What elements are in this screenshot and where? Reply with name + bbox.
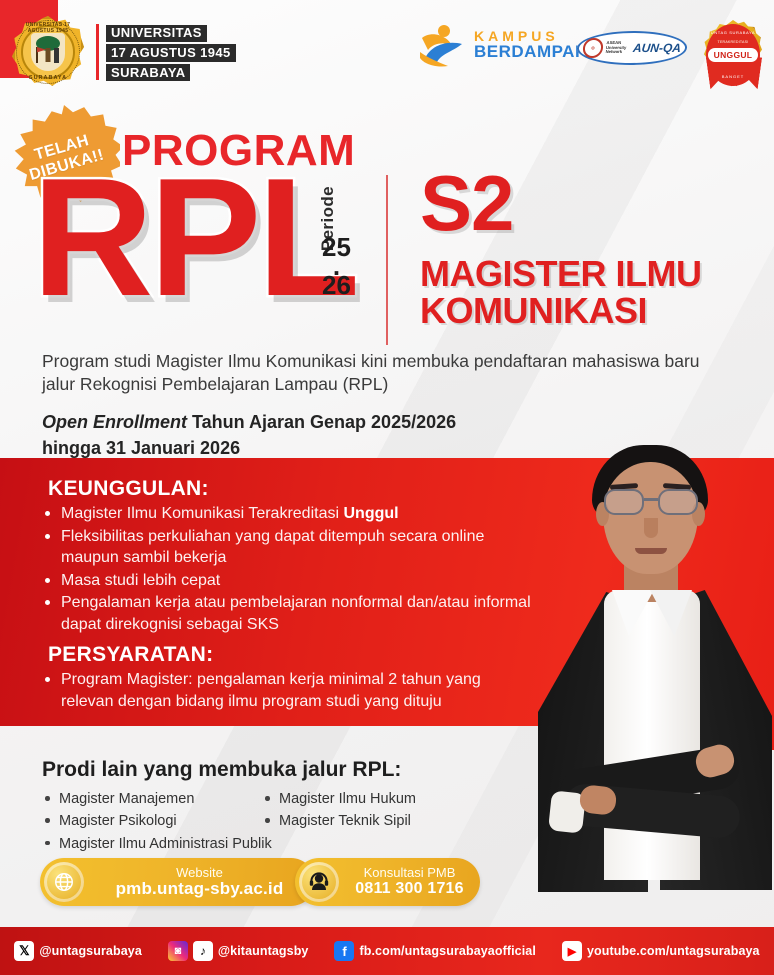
aun-qa-label: AUN-QA	[632, 41, 681, 55]
logo-divider	[96, 24, 99, 80]
other-program-item: Magister Psikologi	[42, 810, 272, 832]
tiktok-icon[interactable]: ♪	[193, 941, 213, 961]
kampus-berdampak-line2: BERDAMPAK	[474, 43, 588, 61]
university-name-line1: UNIVERSITAS	[106, 25, 207, 42]
social-media-bar: 𝕏@untagsurabaya◙♪@kitauntagsbyffb.com/un…	[0, 927, 774, 975]
globe-icon	[44, 862, 84, 902]
requirement-item: Program Magister: pengalaman kerja minim…	[42, 669, 522, 712]
social-link[interactable]: ▶youtube.com/untagsurabaya	[562, 941, 760, 961]
youtube-icon[interactable]: ▶	[562, 941, 582, 961]
degree-level: S2	[420, 168, 513, 238]
program-description: Program studi Magister Ilmu Komunikasi k…	[42, 350, 722, 396]
social-link[interactable]: 𝕏@untagsurabaya	[14, 941, 142, 961]
university-name-line2: 17 AGUSTUS 1945	[106, 44, 236, 61]
advantage-item: Fleksibilitas perkuliahan yang dapat dit…	[42, 526, 542, 569]
aun-qa-logo: ◎ ASEAN University Network AUN-QA	[575, 31, 689, 65]
other-program-item: Magister Ilmu Hukum	[262, 788, 416, 810]
kampus-berdampak-line1: KAMPUS	[474, 29, 588, 44]
aun-qa-subtext: ASEAN University Network	[605, 41, 630, 54]
x-icon[interactable]: 𝕏	[14, 941, 34, 961]
social-handle: @untagsurabaya	[39, 944, 142, 958]
advantage-text: Masa studi lebih cepat	[61, 572, 220, 589]
headset-icon	[299, 862, 339, 902]
other-program-item: Magister Manajemen	[42, 788, 272, 810]
advantage-text: Fleksibilitas perkuliahan yang dapat dit…	[61, 528, 484, 567]
university-name-line3: SURABAYA	[106, 64, 190, 81]
degree-sub-line1: MAGISTER ILMU	[420, 255, 701, 292]
kampus-berdampak-logo: KAMPUS BERDAMPAK	[418, 22, 588, 68]
lecturer-photo	[520, 440, 774, 940]
university-name: UNIVERSITAS 17 AGUSTUS 1945 SURABAYA	[106, 24, 236, 83]
rpl-word: RPL	[32, 160, 356, 315]
requirements-list: Program Magister: pengalaman kerja minim…	[42, 669, 522, 712]
periode-years: 25 . 26	[322, 235, 351, 297]
website-url: pmb.untag-sby.ac.id	[90, 880, 309, 899]
social-handle: @kitauntagsby	[218, 944, 309, 958]
advantage-item: Magister Ilmu Komunikasi Terakreditasi U…	[42, 503, 542, 525]
advantage-item: Pengalaman kerja atau pembelajaran nonfo…	[42, 592, 542, 635]
other-program-item: Magister Ilmu Administrasi Publik	[42, 833, 272, 855]
social-link[interactable]: ◙♪@kitauntagsby	[168, 941, 309, 961]
unggul-sub-text: TERAKREDITASI	[706, 40, 760, 44]
university-seal-icon: UNIVERSITAS 17 AGUSTUS 1945 SURABAYA	[12, 16, 84, 88]
poster-canvas: UNIVERSITAS 17 AGUSTUS 1945 SURABAYA UNI…	[0, 0, 774, 975]
requirements-heading: PERSYARATAN:	[48, 643, 213, 667]
social-handle: youtube.com/untagsurabaya	[587, 944, 760, 958]
asean-network-icon: ◎	[582, 38, 604, 58]
deadline-text: hingga 31 Januari 2026	[42, 438, 240, 459]
other-program-item: Magister Teknik Sipil	[262, 810, 416, 832]
other-programs-column-1: Magister ManajemenMagister PsikologiMagi…	[42, 788, 272, 855]
periode-year-2: 26	[322, 270, 351, 300]
degree-sub-line2: KOMUNIKASI	[420, 292, 701, 329]
other-programs-heading: Prodi lain yang membuka jalur RPL:	[42, 758, 401, 782]
consultation-phone: 0811 300 1716	[345, 880, 474, 898]
unggul-label: UNGGUL	[708, 48, 759, 62]
website-label: Website	[90, 866, 309, 880]
eyeglasses-icon	[604, 489, 698, 515]
unggul-bottom-text: BANGET	[706, 74, 760, 79]
degree-program-name: MAGISTER ILMU KOMUNIKASI	[420, 255, 701, 330]
open-enrollment-line: Open Enrollment Tahun Ajaran Genap 2025/…	[42, 412, 456, 433]
unggul-accreditation-seal: UNTAG SURABAYA TERAKREDITASI UNGGUL BANG…	[700, 18, 766, 92]
unggul-top-text: UNTAG SURABAYA	[706, 30, 760, 35]
open-enrollment-emphasis: Open Enrollment	[42, 412, 187, 432]
open-enrollment-rest: Tahun Ajaran Genap 2025/2026	[187, 412, 456, 432]
title-divider	[386, 175, 388, 345]
instagram-icon[interactable]: ◙	[168, 941, 188, 961]
kampus-berdampak-icon	[418, 22, 466, 68]
advantage-emphasis: Unggul	[343, 505, 398, 522]
advantage-text: Magister Ilmu Komunikasi Terakreditasi	[61, 505, 343, 522]
advantages-heading: KEUNGGULAN:	[48, 477, 209, 501]
social-handle: fb.com/untagsurabayaofficial	[359, 944, 535, 958]
consultation-label: Konsultasi PMB	[345, 866, 474, 880]
seal-bottom-text: SURABAYA	[12, 75, 84, 81]
social-link[interactable]: ffb.com/untagsurabayaofficial	[334, 941, 535, 961]
advantage-text: Pengalaman kerja atau pembelajaran nonfo…	[61, 594, 531, 633]
consultation-button[interactable]: Konsultasi PMB 0811 300 1716	[295, 858, 480, 906]
advantages-list: Magister Ilmu Komunikasi Terakreditasi U…	[42, 503, 542, 637]
other-programs-column-2: Magister Ilmu HukumMagister Teknik Sipil	[262, 788, 416, 833]
website-button[interactable]: Website pmb.untag-sby.ac.id	[40, 858, 315, 906]
facebook-icon[interactable]: f	[334, 941, 354, 961]
advantage-item: Masa studi lebih cepat	[42, 570, 542, 592]
deadline-wrap: hingga 31 Januari 2026	[42, 438, 240, 459]
